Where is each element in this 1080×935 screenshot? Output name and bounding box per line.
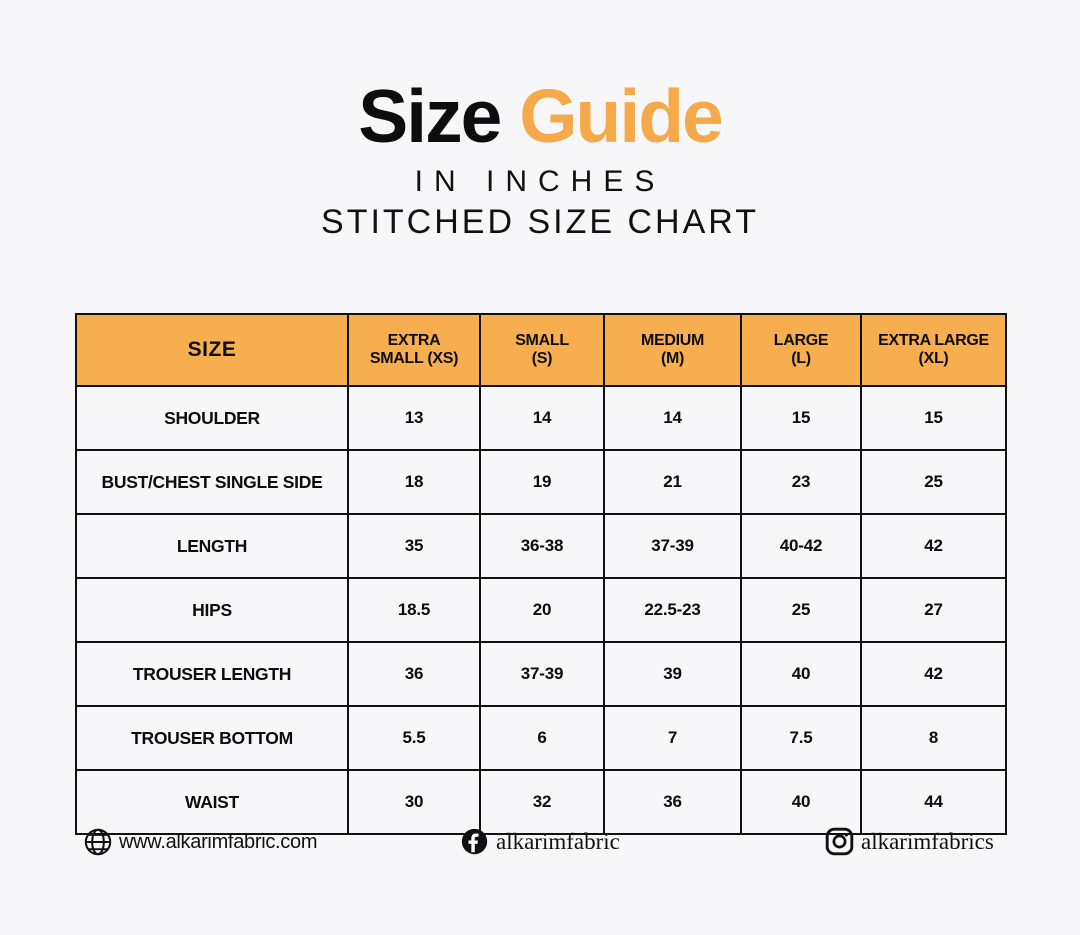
column-header-xs: EXTRA SMALL (XS) bbox=[348, 314, 480, 386]
cell-length-m: 37-39 bbox=[604, 514, 741, 578]
row-label-hips: HIPS bbox=[76, 578, 348, 642]
column-header-size-line1: SIZE bbox=[188, 338, 237, 361]
column-header-l-line2: (L) bbox=[791, 350, 811, 367]
cell-trouser-bottom-xl: 8 bbox=[861, 706, 1006, 770]
column-header-size: SIZE bbox=[76, 314, 348, 386]
instagram-icon bbox=[825, 827, 855, 857]
column-header-xl: EXTRA LARGE (XL) bbox=[861, 314, 1006, 386]
cell-hips-s: 20 bbox=[480, 578, 604, 642]
table-row: BUST/CHEST SINGLE SIDE 18 19 21 23 25 bbox=[76, 450, 1006, 514]
row-label-bust-chest: BUST/CHEST SINGLE SIDE bbox=[76, 450, 348, 514]
table-row: LENGTH 35 36-38 37-39 40-42 42 bbox=[76, 514, 1006, 578]
cell-length-xs: 35 bbox=[348, 514, 480, 578]
column-header-s-line1: SMALL bbox=[515, 332, 569, 349]
title-block: Size Guide IN INCHES STITCHED SIZE CHART bbox=[0, 78, 1080, 241]
table-row: TROUSER LENGTH 36 37-39 39 40 42 bbox=[76, 642, 1006, 706]
table-header: SIZE EXTRA SMALL (XS) SMALL (S) MEDIUM (… bbox=[76, 314, 1006, 386]
cell-trouser-bottom-m: 7 bbox=[604, 706, 741, 770]
column-header-xl-line2: (XL) bbox=[919, 350, 949, 367]
cell-trouser-bottom-l: 7.5 bbox=[741, 706, 861, 770]
row-label-length: LENGTH bbox=[76, 514, 348, 578]
title-word-size: Size bbox=[358, 74, 500, 158]
column-header-xs-line2: SMALL (XS) bbox=[370, 350, 458, 367]
row-label-trouser-length: TROUSER LENGTH bbox=[76, 642, 348, 706]
table-header-row: SIZE EXTRA SMALL (XS) SMALL (S) MEDIUM (… bbox=[76, 314, 1006, 386]
cell-bust-m: 21 bbox=[604, 450, 741, 514]
column-header-m-line2: (M) bbox=[661, 350, 684, 367]
cell-bust-l: 23 bbox=[741, 450, 861, 514]
table-row: HIPS 18.5 20 22.5-23 25 27 bbox=[76, 578, 1006, 642]
size-chart-table-wrapper: SIZE EXTRA SMALL (XS) SMALL (S) MEDIUM (… bbox=[75, 313, 1005, 835]
cell-shoulder-xs: 13 bbox=[348, 386, 480, 450]
footer-instagram-label: alkarimfabrics bbox=[861, 829, 994, 855]
cell-shoulder-xl: 15 bbox=[861, 386, 1006, 450]
footer-website-label: www.alkarimfabric.com bbox=[119, 831, 317, 854]
column-header-s: SMALL (S) bbox=[480, 314, 604, 386]
cell-hips-m: 22.5-23 bbox=[604, 578, 741, 642]
footer-facebook[interactable]: alkarimfabric bbox=[460, 820, 620, 864]
cell-bust-xl: 25 bbox=[861, 450, 1006, 514]
footer-instagram[interactable]: alkarimfabrics bbox=[825, 820, 994, 864]
footer-facebook-label: alkarimfabric bbox=[496, 829, 620, 855]
row-label-trouser-bottom: TROUSER BOTTOM bbox=[76, 706, 348, 770]
cell-shoulder-s: 14 bbox=[480, 386, 604, 450]
page-title: Size Guide bbox=[0, 78, 1080, 155]
column-header-l-line1: LARGE bbox=[774, 332, 829, 349]
column-header-s-line2: (S) bbox=[532, 350, 552, 367]
facebook-icon bbox=[460, 827, 490, 857]
size-chart-table: SIZE EXTRA SMALL (XS) SMALL (S) MEDIUM (… bbox=[75, 313, 1007, 835]
footer-website[interactable]: www.alkarimfabric.com bbox=[83, 820, 317, 864]
cell-trouser-length-xl: 42 bbox=[861, 642, 1006, 706]
cell-bust-s: 19 bbox=[480, 450, 604, 514]
column-header-xl-line1: EXTRA LARGE bbox=[878, 332, 989, 349]
table-body: SHOULDER 13 14 14 15 15 BUST/CHEST SINGL… bbox=[76, 386, 1006, 834]
cell-trouser-length-s: 37-39 bbox=[480, 642, 604, 706]
cell-shoulder-l: 15 bbox=[741, 386, 861, 450]
table-row: TROUSER BOTTOM 5.5 6 7 7.5 8 bbox=[76, 706, 1006, 770]
cell-bust-xs: 18 bbox=[348, 450, 480, 514]
column-header-m-line1: MEDIUM bbox=[641, 332, 704, 349]
column-header-m: MEDIUM (M) bbox=[604, 314, 741, 386]
cell-length-l: 40-42 bbox=[741, 514, 861, 578]
column-header-xs-line1: EXTRA bbox=[388, 332, 441, 349]
cell-trouser-length-l: 40 bbox=[741, 642, 861, 706]
cell-hips-xl: 27 bbox=[861, 578, 1006, 642]
globe-icon bbox=[83, 827, 113, 857]
cell-length-xl: 42 bbox=[861, 514, 1006, 578]
cell-trouser-bottom-s: 6 bbox=[480, 706, 604, 770]
cell-trouser-length-m: 39 bbox=[604, 642, 741, 706]
cell-trouser-bottom-xs: 5.5 bbox=[348, 706, 480, 770]
size-guide-page: Size Guide IN INCHES STITCHED SIZE CHART… bbox=[0, 0, 1080, 935]
row-label-shoulder: SHOULDER bbox=[76, 386, 348, 450]
title-space bbox=[500, 74, 519, 158]
column-header-l: LARGE (L) bbox=[741, 314, 861, 386]
subtitle-units: IN INCHES bbox=[0, 165, 1080, 198]
cell-trouser-length-xs: 36 bbox=[348, 642, 480, 706]
table-row: SHOULDER 13 14 14 15 15 bbox=[76, 386, 1006, 450]
cell-shoulder-m: 14 bbox=[604, 386, 741, 450]
cell-length-s: 36-38 bbox=[480, 514, 604, 578]
footer: www.alkarimfabric.com alkarimfabric alka… bbox=[75, 820, 1005, 868]
subtitle-chart-type: STITCHED SIZE CHART bbox=[0, 204, 1080, 241]
cell-hips-l: 25 bbox=[741, 578, 861, 642]
title-word-guide: Guide bbox=[519, 74, 722, 158]
cell-hips-xs: 18.5 bbox=[348, 578, 480, 642]
